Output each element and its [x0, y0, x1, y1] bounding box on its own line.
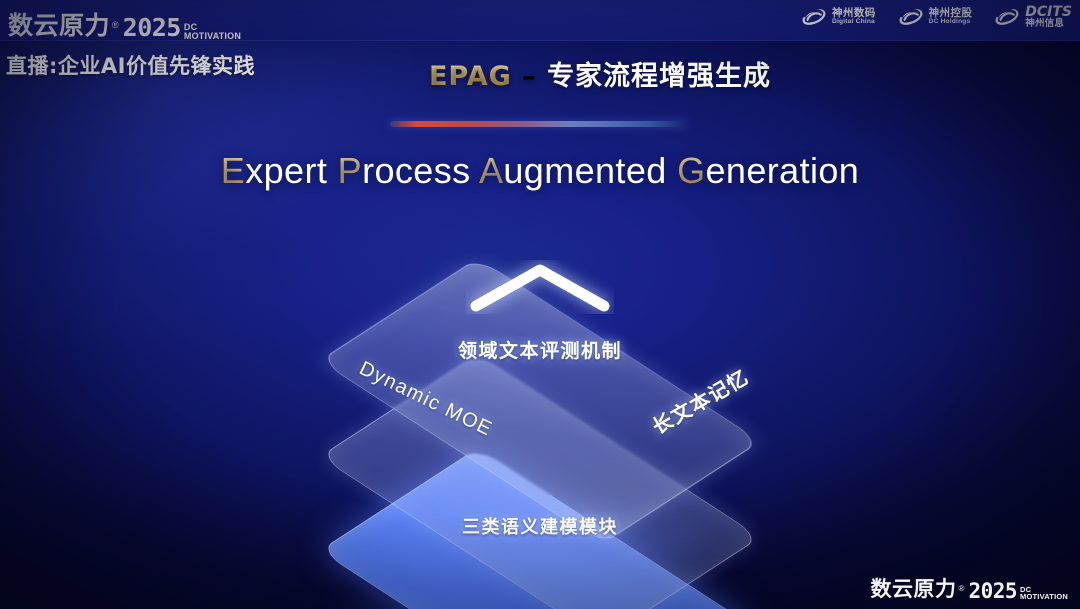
partner-text-block: DCITS 神州信息 — [1025, 5, 1072, 30]
partner-name-en: 神州信息 — [1025, 19, 1072, 29]
brand-logo-watermark: 数云原力 ® 2025 DC MOTIVATION — [871, 573, 1068, 603]
brand-year: 2025 — [123, 13, 181, 42]
swirl-logo-icon — [898, 4, 924, 30]
brand-logo-top: 数云原力 ® 2025 DC MOTIVATION — [8, 6, 241, 42]
word-rest-expert: xpert — [245, 150, 327, 191]
brand-dc-motivation: DC MOTIVATION — [184, 23, 241, 42]
brand-motivation-text: MOTIVATION — [184, 32, 241, 40]
english-word-augmented: Augmented — [479, 150, 667, 191]
swirl-logo-icon — [801, 4, 827, 30]
watermark-motivation-text: MOTIVATION — [1020, 594, 1068, 601]
cap-letter-e: E — [221, 150, 245, 191]
word-rest-process: rocess — [362, 150, 470, 191]
cap-letter-p: P — [338, 150, 362, 191]
watermark-chinese-name: 数云原力 — [871, 573, 957, 603]
watermark-year: 2025 — [968, 579, 1017, 603]
word-rest-augmented: ugmented — [503, 150, 666, 191]
brand-registered-mark: ® — [112, 20, 119, 30]
word-rest-generation: eneration — [706, 150, 860, 191]
english-word-process: Process — [338, 150, 471, 191]
title-separator: – — [512, 61, 547, 92]
page-title: EPAG – 专家流程增强生成 — [0, 54, 1080, 93]
partner-name-en: DC Holdings — [929, 19, 973, 26]
title-chinese: 专家流程增强生成 — [547, 61, 771, 92]
layered-stack-diagram: 领域文本评测机制 Dynamic MOE 长文本记忆 三类语义建模模块 — [305, 236, 775, 566]
english-word-generation: Generation — [677, 150, 859, 191]
partner-name-en: Digital China — [832, 19, 876, 26]
title-divider — [390, 121, 688, 127]
partner-logo-dc-holdings: 神州控股 DC Holdings — [898, 4, 973, 30]
swirl-logo-icon — [994, 4, 1020, 30]
partner-logo-dcits: DCITS 神州信息 — [994, 4, 1072, 30]
partner-text-block: 神州控股 DC Holdings — [929, 8, 973, 26]
partner-text-block: 神州数码 Digital China — [832, 8, 876, 26]
cap-letter-a: A — [479, 150, 503, 191]
watermark-registered-mark: ® — [959, 584, 965, 593]
title-acronym: EPAG — [429, 61, 512, 92]
brand-chinese-name: 数云原力 — [8, 6, 110, 42]
cap-letter-g: G — [677, 150, 705, 191]
watermark-dc-motivation: DC MOTIVATION — [1020, 587, 1068, 603]
english-word-expert: Expert — [221, 150, 327, 191]
slide-canvas: 数云原力 ® 2025 DC MOTIVATION 神州数码 Digital — [0, 0, 1080, 609]
partner-logo-group: 神州数码 Digital China 神州控股 DC Holdings — [801, 4, 1072, 30]
partner-logo-digital-china: 神州数码 Digital China — [801, 4, 876, 30]
title-english: Expert Process Augmented Generation — [0, 150, 1080, 192]
